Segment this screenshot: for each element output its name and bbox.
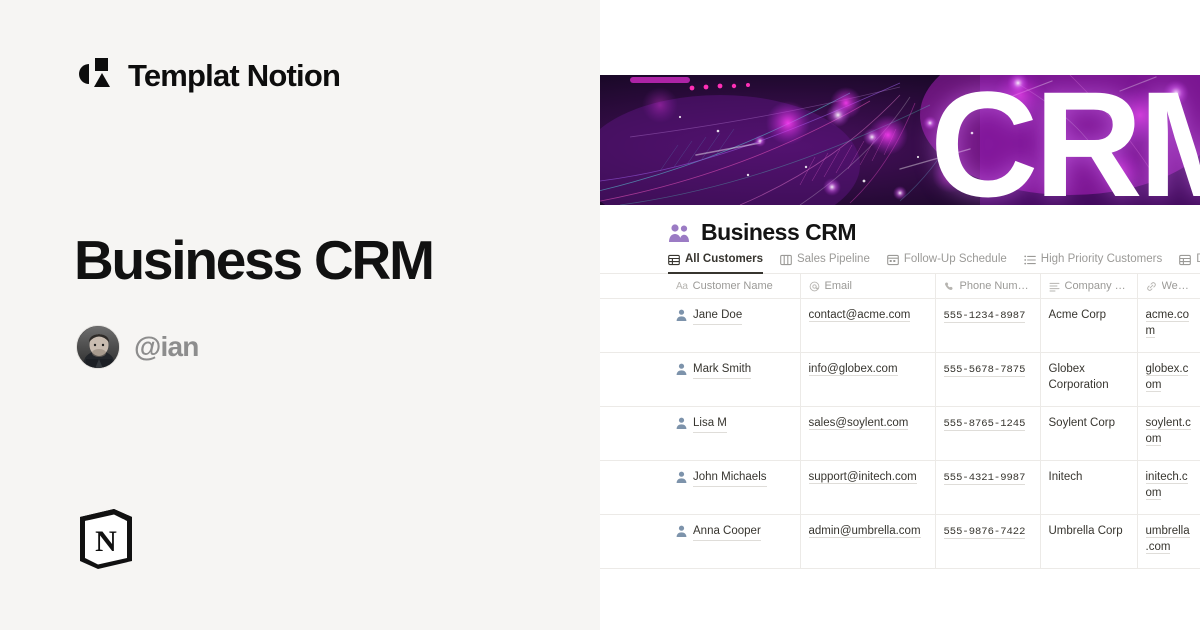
page-root: Templat Notion Business CRM <box>0 0 1200 630</box>
cell-phone[interactable]: 555-4321-9987 <box>935 461 1040 515</box>
cell-customer-name[interactable]: Jane Doe <box>668 299 800 353</box>
email-value: admin@umbrella.com <box>809 525 921 538</box>
column-label: Email <box>825 281 853 292</box>
tab-label: All Customers <box>685 254 763 266</box>
tab-deals-overview[interactable]: Deals Overview <box>1179 254 1200 273</box>
email-value: contact@acme.com <box>809 309 911 322</box>
left-promo-panel: Templat Notion Business CRM <box>0 0 600 630</box>
column-header-email[interactable]: Email <box>800 274 935 299</box>
table-row[interactable]: Jane Doe contact@acme.com 555-1234-8987 … <box>600 299 1200 353</box>
person-bust-icon <box>676 363 687 375</box>
email-value: sales@soylent.com <box>809 417 909 430</box>
cell-company[interactable]: Globex Corporation <box>1040 353 1137 407</box>
cell-phone[interactable]: 555-9876-7422 <box>935 515 1040 569</box>
view-tabs: All Customers Sales Pipeline Follow-Up S… <box>600 244 1200 274</box>
column-label: Website <box>1162 281 1193 292</box>
link-icon <box>1146 281 1157 292</box>
phone-value: 555-1234-8987 <box>944 310 1026 323</box>
author-row[interactable]: @ian <box>76 325 199 369</box>
phone-value: 555-5678-7875 <box>944 364 1026 377</box>
cell-phone[interactable]: 555-5678-7875 <box>935 353 1040 407</box>
tab-sales-pipeline[interactable]: Sales Pipeline <box>780 254 870 273</box>
customer-name: Jane Doe <box>693 308 742 325</box>
two-people-icon <box>668 223 690 243</box>
avatar <box>76 325 120 369</box>
person-bust-icon <box>676 417 687 429</box>
cell-website[interactable]: globex.com <box>1137 353 1200 407</box>
cell-email[interactable]: support@initech.com <box>800 461 935 515</box>
notion-document: Business CRM All Customers Sales Pipelin… <box>600 205 1200 569</box>
cell-company[interactable]: Soylent Corp <box>1040 407 1137 461</box>
email-value: support@initech.com <box>809 471 917 484</box>
cell-customer-name[interactable]: Lisa M <box>668 407 800 461</box>
table-row[interactable]: John Michaels support@initech.com 555-43… <box>600 461 1200 515</box>
column-header-phone-number[interactable]: Phone Number <box>935 274 1040 299</box>
cell-customer-name[interactable]: John Michaels <box>668 461 800 515</box>
person-bust-icon <box>676 525 687 537</box>
page-title: Business CRM <box>74 232 433 290</box>
website-value: umbrella.com <box>1146 525 1190 554</box>
cell-email[interactable]: contact@acme.com <box>800 299 935 353</box>
document-title: Business CRM <box>701 221 856 244</box>
brand-lockup[interactable]: Templat Notion <box>76 56 340 94</box>
row-gutter <box>600 461 668 515</box>
customer-name: Lisa M <box>693 416 727 433</box>
cell-email[interactable]: admin@umbrella.com <box>800 515 935 569</box>
brand-name: Templat Notion <box>128 60 340 91</box>
row-gutter <box>600 353 668 407</box>
customer-name: Mark Smith <box>693 362 751 379</box>
phone-value: 555-9876-7422 <box>944 526 1026 539</box>
phone-value: 555-8765-1245 <box>944 418 1026 431</box>
customers-table: Aa Customer Name Email <box>600 274 1200 569</box>
column-header-company-name[interactable]: Company Na... <box>1040 274 1137 299</box>
column-header-customer-name[interactable]: Aa Customer Name <box>668 274 800 299</box>
cell-website[interactable]: acme.com <box>1137 299 1200 353</box>
cell-phone[interactable]: 555-1234-8987 <box>935 299 1040 353</box>
at-sign-icon <box>809 281 820 292</box>
company-value: Umbrella Corp <box>1049 525 1123 537</box>
notion-cube-logo-icon: N <box>74 503 138 573</box>
author-handle: @ian <box>134 333 199 361</box>
row-gutter <box>600 299 668 353</box>
cell-customer-name[interactable]: Mark Smith <box>668 353 800 407</box>
text-lines-icon <box>1049 281 1060 292</box>
cell-website[interactable]: umbrella.com <box>1137 515 1200 569</box>
person-bust-icon <box>676 309 687 321</box>
table-view-icon <box>1179 254 1191 266</box>
document-title-row: Business CRM <box>600 205 1200 244</box>
website-value: soylent.com <box>1146 417 1191 446</box>
table-view-icon <box>668 254 680 266</box>
website-value: initech.com <box>1146 471 1188 500</box>
column-header-website[interactable]: Website <box>1137 274 1200 299</box>
tab-follow-up-schedule[interactable]: Follow-Up Schedule <box>887 254 1007 273</box>
column-label: Company Na... <box>1065 281 1129 292</box>
tab-label: Sales Pipeline <box>797 254 870 266</box>
cell-website[interactable]: initech.com <box>1137 461 1200 515</box>
customer-name: John Michaels <box>693 470 767 487</box>
table-row[interactable]: Anna Cooper admin@umbrella.com 555-9876-… <box>600 515 1200 569</box>
phone-value: 555-4321-9987 <box>944 472 1026 485</box>
tab-label: Follow-Up Schedule <box>904 254 1007 266</box>
svg-text:N: N <box>95 525 117 558</box>
cover-title-text: CRM <box>930 75 1200 205</box>
cell-email[interactable]: info@globex.com <box>800 353 935 407</box>
list-view-icon <box>1024 254 1036 266</box>
table-row[interactable]: Lisa M sales@soylent.com 555-8765-1245 S… <box>600 407 1200 461</box>
table-body: Jane Doe contact@acme.com 555-1234-8987 … <box>600 299 1200 569</box>
right-preview-panel: CRM Business CRM <box>600 0 1200 630</box>
company-value: Acme Corp <box>1049 309 1107 321</box>
tab-label: High Priority Customers <box>1041 254 1162 266</box>
table-header-row: Aa Customer Name Email <box>600 274 1200 299</box>
tab-high-priority-customers[interactable]: High Priority Customers <box>1024 254 1162 273</box>
calendar-view-icon <box>887 254 899 266</box>
cell-company[interactable]: Initech <box>1040 461 1137 515</box>
cell-website[interactable]: soylent.com <box>1137 407 1200 461</box>
phone-icon <box>944 281 955 292</box>
cell-email[interactable]: sales@soylent.com <box>800 407 935 461</box>
company-value: Soylent Corp <box>1049 417 1115 429</box>
templat-notion-logo-icon <box>76 56 114 94</box>
row-gutter <box>600 274 668 299</box>
row-gutter <box>600 515 668 569</box>
column-label: Phone Number <box>960 281 1032 292</box>
title-aa-icon: Aa <box>676 282 688 292</box>
company-value: Globex Corporation <box>1049 363 1109 391</box>
column-label: Customer Name <box>693 281 773 292</box>
tab-all-customers[interactable]: All Customers <box>668 254 763 273</box>
cell-company[interactable]: Acme Corp <box>1040 299 1137 353</box>
company-value: Initech <box>1049 471 1083 483</box>
email-value: info@globex.com <box>809 363 898 376</box>
table-row[interactable]: Mark Smith info@globex.com 555-5678-7875… <box>600 353 1200 407</box>
cover-image: CRM <box>600 75 1200 205</box>
customer-name: Anna Cooper <box>693 524 761 541</box>
cell-customer-name[interactable]: Anna Cooper <box>668 515 800 569</box>
cell-phone[interactable]: 555-8765-1245 <box>935 407 1040 461</box>
board-view-icon <box>780 254 792 266</box>
website-value: acme.com <box>1146 309 1189 338</box>
cell-company[interactable]: Umbrella Corp <box>1040 515 1137 569</box>
row-gutter <box>600 407 668 461</box>
website-value: globex.com <box>1146 363 1189 392</box>
person-bust-icon <box>676 471 687 483</box>
tab-label: Deals Overview <box>1196 254 1200 266</box>
